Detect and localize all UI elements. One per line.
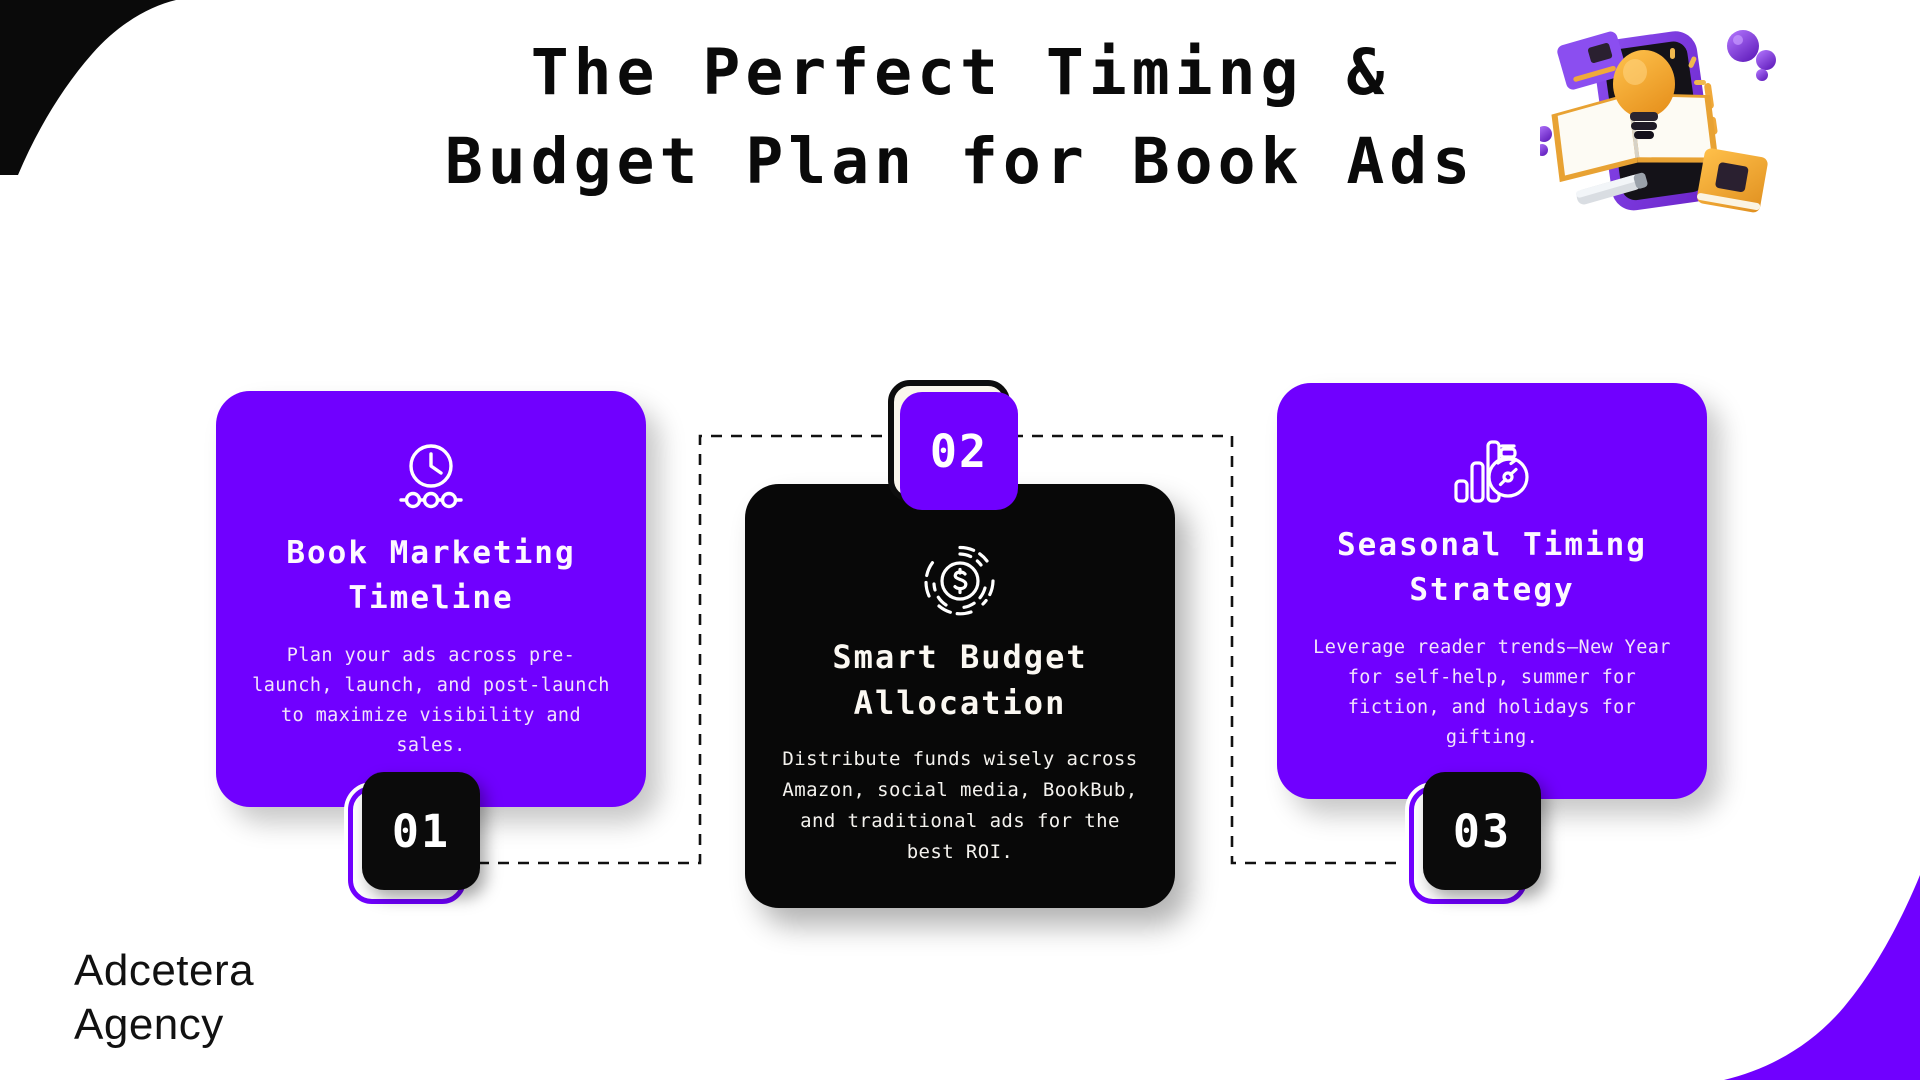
brand-logo-line-1: Adcetera xyxy=(74,944,254,998)
step-number-badge-01[interactable]: 01 xyxy=(358,776,484,902)
dollar-coin-icon xyxy=(923,542,997,620)
badge-number-label: 03 xyxy=(1423,772,1541,890)
card-body-text: Plan your ads across pre-launch, launch,… xyxy=(250,641,612,762)
badge-number-label: 02 xyxy=(900,392,1018,510)
clock-timeline-icon xyxy=(393,439,469,517)
card-body-text: Distribute funds wisely across Amazon, s… xyxy=(779,744,1141,868)
card-smart-budget-allocation[interactable]: Smart Budget Allocation Distribute funds… xyxy=(745,484,1175,908)
bar-chart-stopwatch-icon xyxy=(1453,431,1531,509)
step-number-badge-03[interactable]: 03 xyxy=(1419,776,1545,902)
card-book-marketing-timeline[interactable]: Book Marketing Timeline Plan your ads ac… xyxy=(216,391,646,807)
card-body-text: Leverage reader trends—New Year for self… xyxy=(1311,633,1673,754)
card-seasonal-timing-strategy[interactable]: Seasonal Timing Strategy Leverage reader… xyxy=(1277,383,1707,799)
badge-number-label: 01 xyxy=(362,772,480,890)
brand-logo-line-2: Agency xyxy=(74,998,254,1052)
brand-logo: Adcetera Agency xyxy=(74,944,254,1051)
step-number-badge-02[interactable]: 02 xyxy=(897,389,1023,515)
cards-container: Book Marketing Timeline Plan your ads ac… xyxy=(0,0,1920,1080)
card-title: Seasonal Timing Strategy xyxy=(1311,523,1673,613)
card-title: Book Marketing Timeline xyxy=(250,531,612,621)
card-title: Smart Budget Allocation xyxy=(779,634,1141,727)
